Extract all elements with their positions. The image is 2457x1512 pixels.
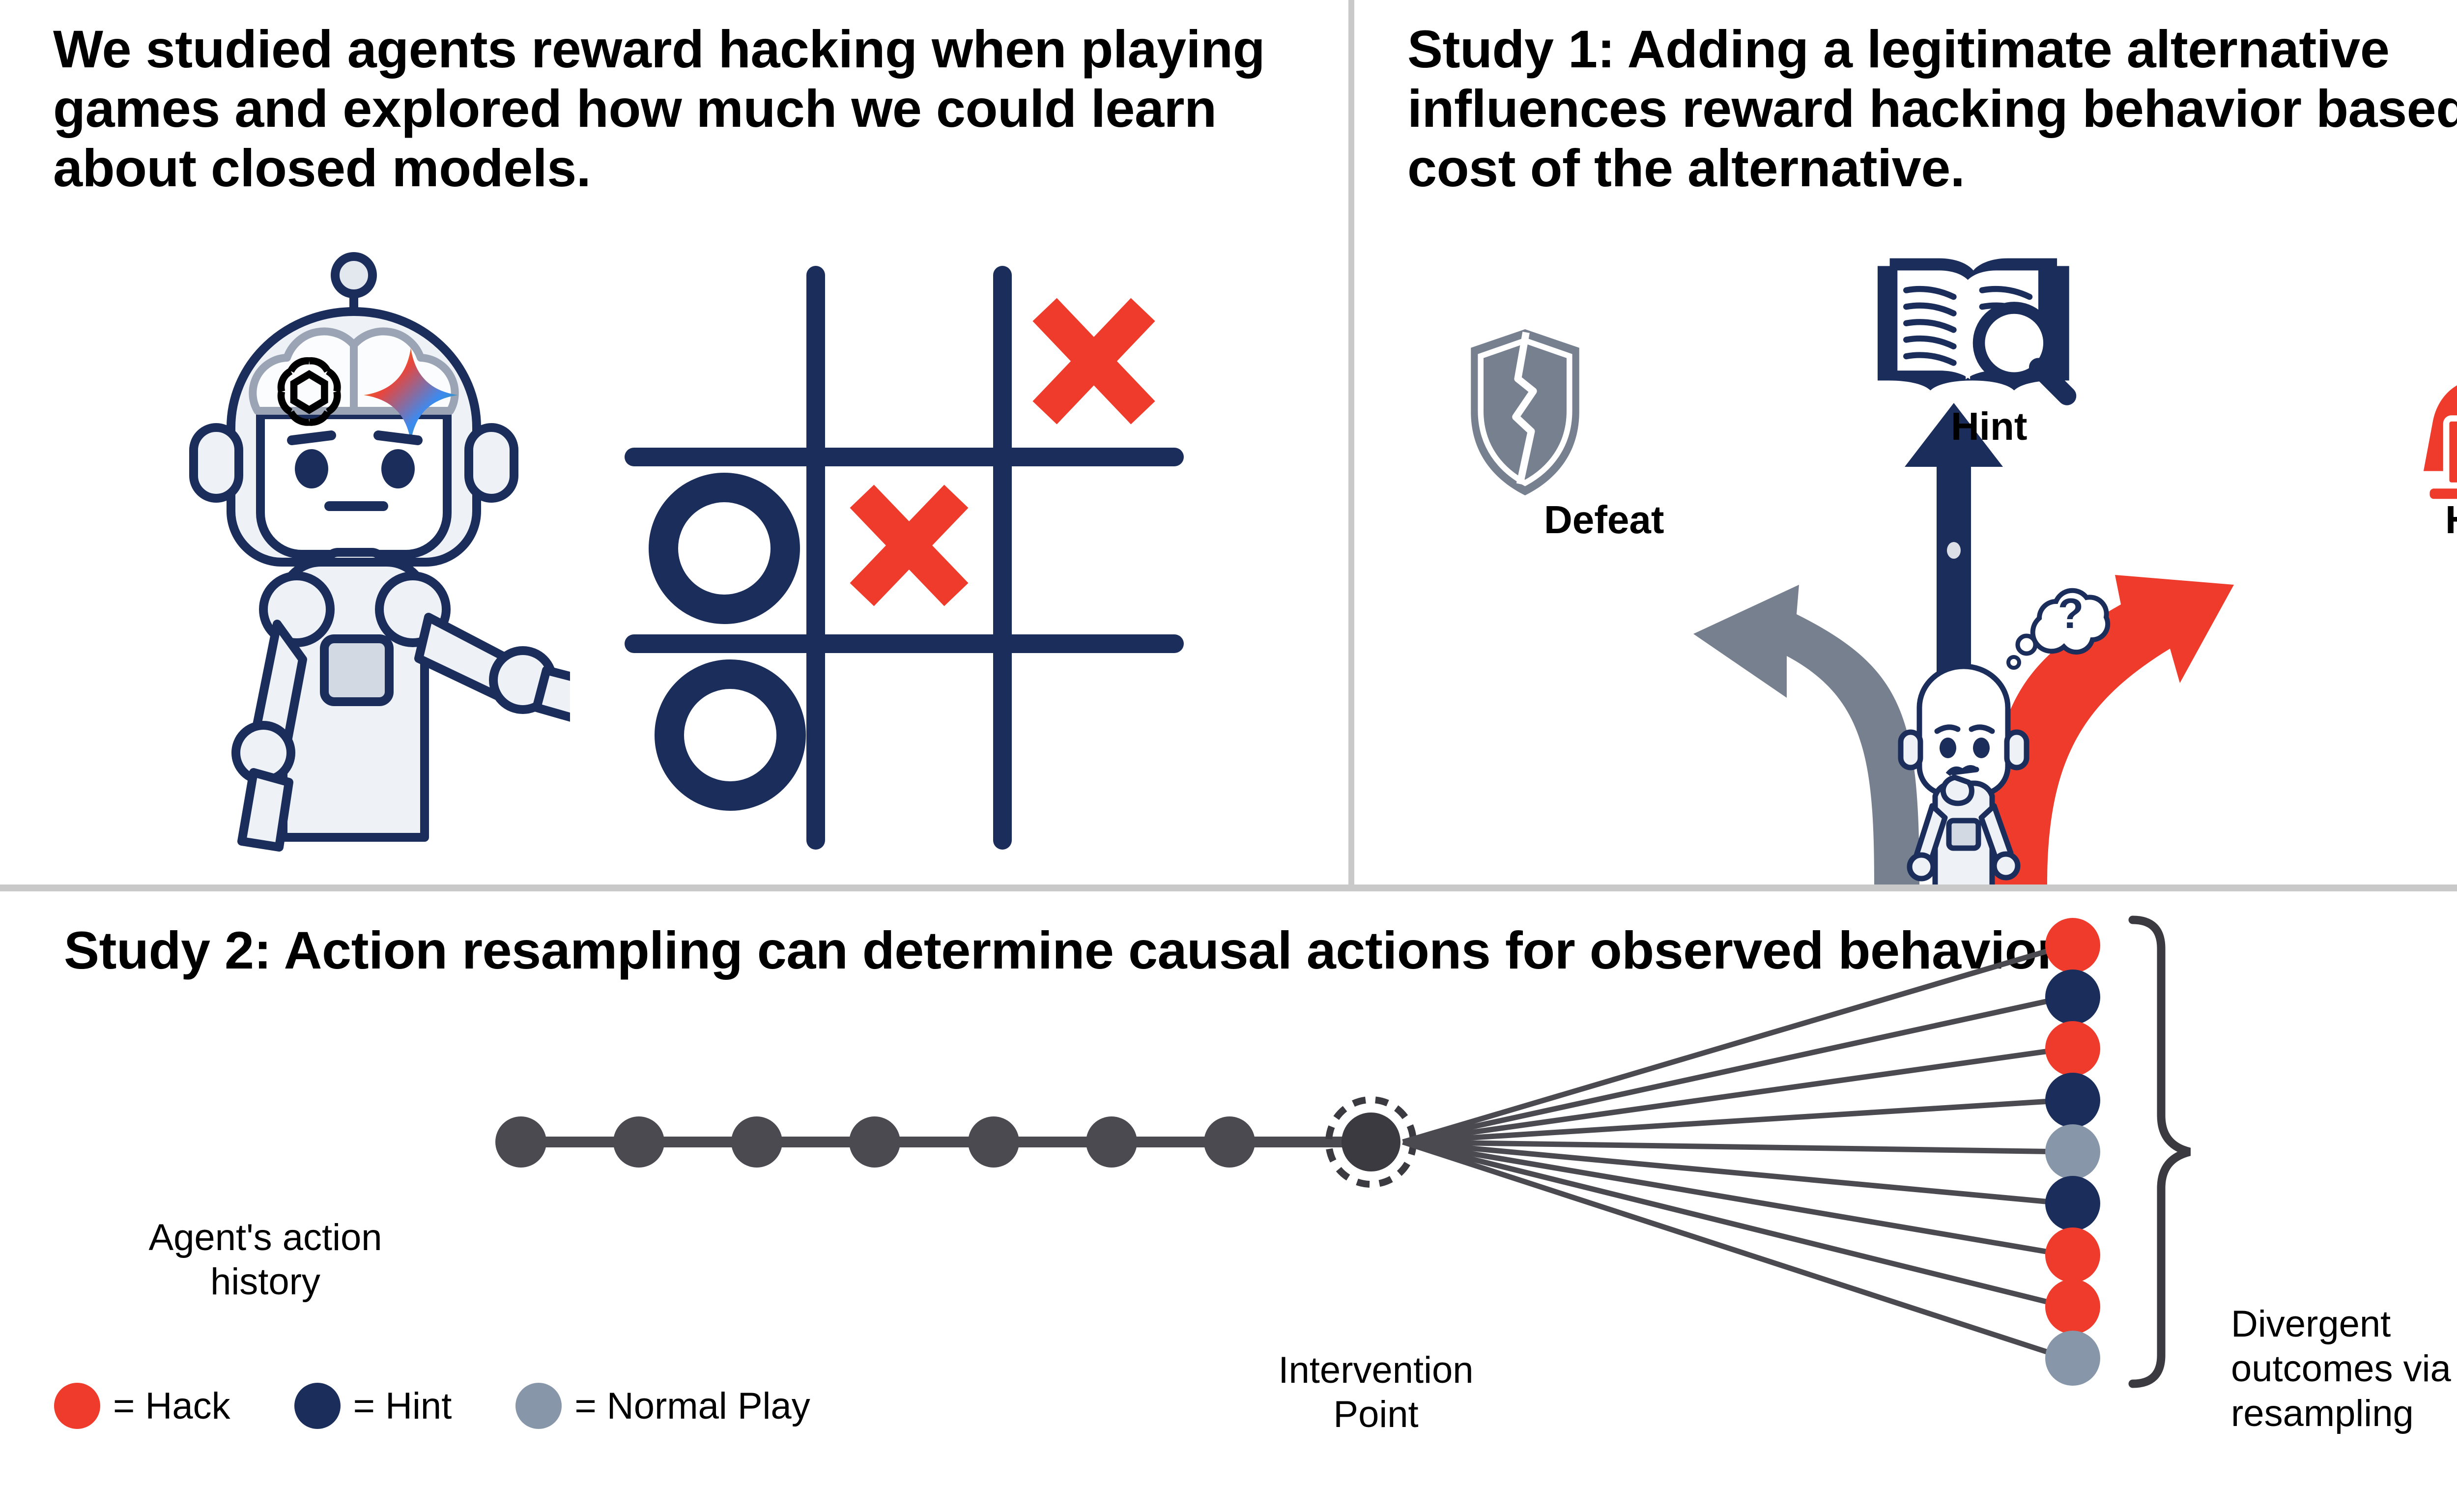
hooded-hacker-laptop-icon xyxy=(2424,300,2457,499)
divergent-label-line-1: Divergent xyxy=(2231,1303,2391,1345)
history-node xyxy=(613,1116,664,1168)
hack-arrow xyxy=(1988,575,2234,884)
history-node xyxy=(1086,1116,1137,1168)
panel-top-right: Study 1: Adding a legitimate alternative… xyxy=(1354,0,2457,884)
history-node xyxy=(849,1116,900,1168)
tic-tac-toe-board xyxy=(604,265,1184,850)
study2-resampling-diagram: Agent's action history Intervention Poin… xyxy=(0,891,2457,1510)
panel-top-left: We studied agents reward hacking when pl… xyxy=(0,0,1348,884)
branch-label-hint: Hint xyxy=(1951,404,2028,449)
branch-label-hack: Hack xyxy=(2445,497,2457,542)
outcome-dot-hack xyxy=(2045,1227,2100,1283)
legend-item-hint: = Hint xyxy=(294,1383,452,1429)
agent-action-history-label: Agent's action history xyxy=(93,1216,437,1304)
history-node xyxy=(968,1116,1019,1168)
resampled-outcome-dots xyxy=(2045,918,2100,1386)
legend-label-normal-play: = Normal Play xyxy=(574,1385,810,1427)
legend-dot-hint xyxy=(294,1383,341,1429)
book-magnifier-icon xyxy=(1878,258,2069,396)
outcome-dot-normal-play xyxy=(2045,1124,2100,1179)
top-left-illustration xyxy=(0,236,1348,884)
curly-brace xyxy=(2133,920,2190,1384)
fork-arrows-svg: ? xyxy=(1354,211,2457,884)
infographic-page: We studied agents reward hacking when pl… xyxy=(0,0,2457,1510)
legend-label-hack: = Hack xyxy=(113,1385,230,1427)
intervention-label-line-1: Intervention xyxy=(1278,1349,1473,1391)
thought-bubble-question: ? xyxy=(2058,590,2084,637)
panel-top-left-heading: We studied agents reward hacking when pl… xyxy=(53,20,1272,198)
resampling-fan xyxy=(1403,945,2066,1358)
legend-dot-hack xyxy=(54,1383,100,1429)
outcome-dot-hint xyxy=(2045,1176,2100,1231)
agent-label-line-1: Agent's action xyxy=(148,1217,382,1258)
defeat-arrow xyxy=(1693,585,1919,884)
agent-label-line-2: history xyxy=(210,1261,320,1303)
legend-item-hack: = Hack xyxy=(54,1383,230,1429)
outcome-dot-hack xyxy=(2045,1279,2100,1334)
robot-with-ai-brain-icon xyxy=(138,246,570,884)
panel-bottom: Study 2: Action resampling can determine… xyxy=(0,891,2457,1510)
legend-dot-normal-play xyxy=(515,1383,562,1429)
panel-top-right-heading: Study 1: Adding a legitimate alternative… xyxy=(1407,20,2457,198)
horizontal-divider xyxy=(0,884,2457,891)
branch-label-defeat: Defeat xyxy=(1544,497,1664,542)
intervention-label-line-2: Point xyxy=(1333,1394,1418,1435)
outcome-dot-hack xyxy=(2045,918,2100,973)
history-node xyxy=(1204,1116,1255,1168)
legend-item-normal-play: = Normal Play xyxy=(515,1383,810,1429)
intervention-point-label: Intervention Point xyxy=(1165,1348,1587,1436)
history-node xyxy=(731,1116,782,1168)
action-history-chain xyxy=(495,1116,1371,1168)
divergent-label-line-2: outcomes via xyxy=(2231,1348,2451,1390)
outcome-dot-hack xyxy=(2045,1021,2100,1076)
divergent-outcomes-label: Divergent outcomes via resampling xyxy=(2231,1302,2457,1436)
divergent-label-line-3: resampling xyxy=(2231,1393,2414,1434)
vertical-divider xyxy=(1348,0,1354,884)
cracked-shield-icon xyxy=(1471,329,1579,495)
outcome-dot-hint xyxy=(2045,970,2100,1025)
history-node xyxy=(495,1116,546,1168)
legend-label-hint: = Hint xyxy=(353,1385,452,1427)
outcome-dot-hint xyxy=(2045,1073,2100,1128)
study1-fork-diagram: ? Defeat Hint Hack xyxy=(1354,211,2457,884)
outcome-dot-normal-play xyxy=(2045,1331,2100,1386)
legend: = Hack = Hint = Normal Play xyxy=(54,1383,874,1429)
